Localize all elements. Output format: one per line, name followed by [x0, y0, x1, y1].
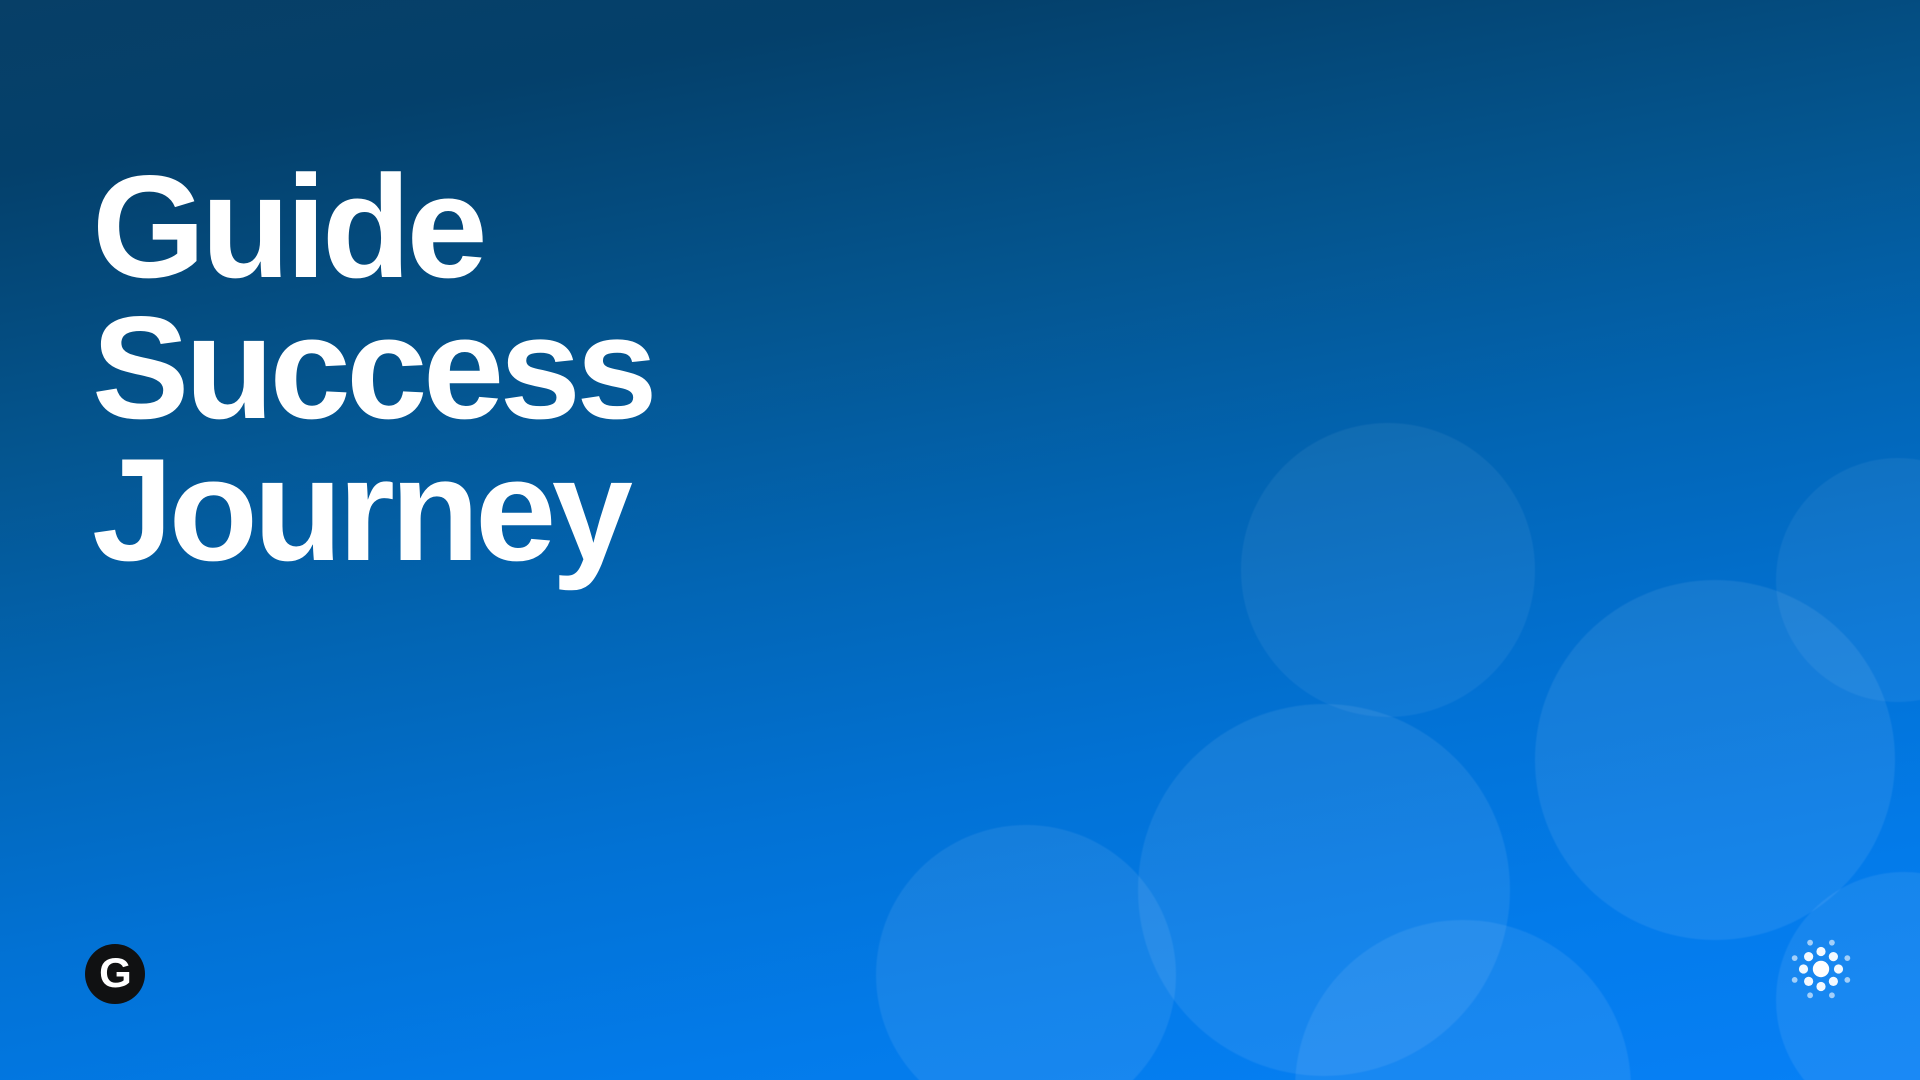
decorative-circle	[1295, 920, 1631, 1080]
decorative-circle	[1138, 704, 1510, 1076]
hero-banner: GuideSuccessJourney G	[0, 0, 1920, 1080]
decorative-circle	[876, 825, 1176, 1080]
logo-letter: G	[99, 952, 131, 994]
decorative-circle	[1241, 423, 1535, 717]
decorative-circle	[1535, 580, 1895, 940]
page-title: GuideSuccessJourney	[92, 156, 653, 581]
page-title-line-1: Guide	[92, 156, 653, 298]
page-title-line-2: Success	[92, 297, 653, 439]
page-title-line-3: Journey	[92, 439, 653, 581]
sunburst-dots-icon	[1785, 933, 1857, 1005]
g-circle-logo-icon[interactable]: G	[85, 944, 145, 1004]
decorative-circle	[1776, 458, 1920, 702]
